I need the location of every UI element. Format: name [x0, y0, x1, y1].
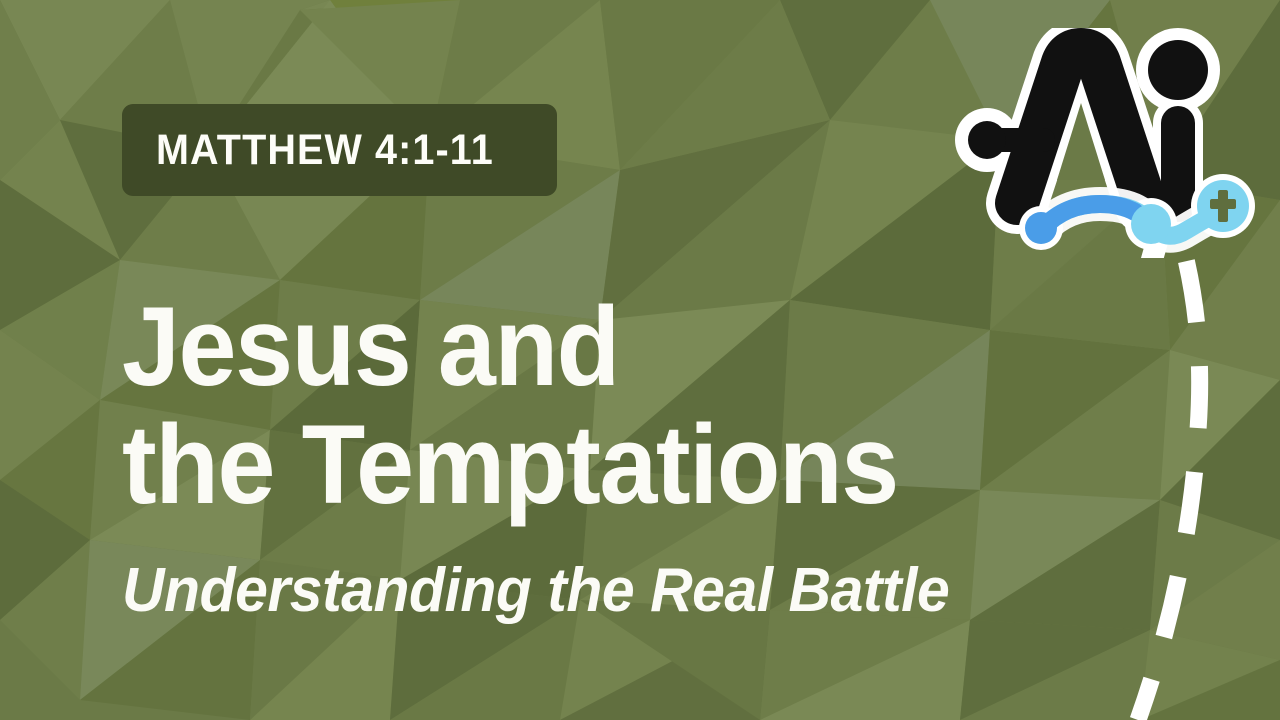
- black-node-left: [968, 121, 1006, 159]
- blue-node-left: [1025, 212, 1057, 244]
- title-slide: MATTHEW 4:1-11 Jesus and the Temptations…: [0, 0, 1280, 720]
- subtitle: Understanding the Real Battle: [122, 560, 1082, 622]
- ai-faith-logo[interactable]: [955, 28, 1255, 258]
- title-line-1: Jesus and: [122, 292, 1061, 402]
- title-line-2: the Temptations: [122, 410, 1061, 520]
- headline-block: Jesus and the Temptations Understanding …: [122, 292, 1132, 622]
- i-dot: [1148, 40, 1208, 100]
- scripture-reference-badge: MATTHEW 4:1-11: [122, 104, 557, 196]
- blue-node-mid: [1131, 204, 1171, 244]
- scripture-reference-label: MATTHEW 4:1-11: [156, 129, 494, 172]
